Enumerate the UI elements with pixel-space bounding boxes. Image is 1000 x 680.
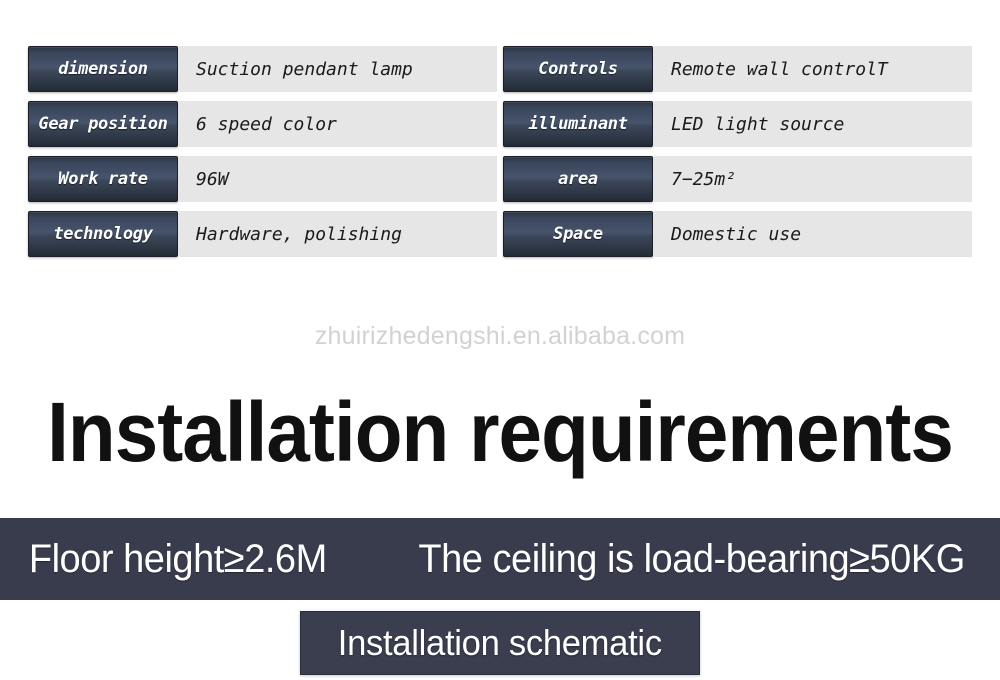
spec-value-work-rate: 96W <box>178 156 497 202</box>
product-spec-page: dimension Suction pendant lamp Controls … <box>0 0 1000 680</box>
spec-value-illuminant: LED light source <box>653 101 972 147</box>
spec-value-space: Domestic use <box>653 211 972 257</box>
spec-value-technology: Hardware, polishing <box>178 211 497 257</box>
spec-value-dimension: Suction pendant lamp <box>178 46 497 92</box>
spec-label-work-rate: Work rate <box>28 156 178 202</box>
spec-label-illuminant: illuminant <box>503 101 653 147</box>
spec-value-area: 7−25m² <box>653 156 972 202</box>
table-row: Work rate 96W area 7−25m² <box>28 156 972 202</box>
spec-cell-technology: technology Hardware, polishing <box>28 211 497 257</box>
table-row: technology Hardware, polishing Space Dom… <box>28 211 972 257</box>
spec-value-controls: Remote wall controlT <box>653 46 972 92</box>
requirements-banner: Floor height≥2.6M The ceiling is load-be… <box>0 518 1000 600</box>
installation-schematic-label: Installation schematic <box>338 623 662 663</box>
table-row: Gear position 6 speed color illuminant L… <box>28 101 972 147</box>
page-title: Installation requirements <box>35 386 965 478</box>
installation-schematic-heading: Installation schematic <box>300 611 700 675</box>
spec-cell-work-rate: Work rate 96W <box>28 156 497 202</box>
spec-label-technology: technology <box>28 211 178 257</box>
spec-label-gear-position: Gear position <box>28 101 178 147</box>
spec-cell-space: Space Domestic use <box>503 211 972 257</box>
spec-label-dimension: dimension <box>28 46 178 92</box>
spec-cell-area: area 7−25m² <box>503 156 972 202</box>
spec-label-controls: Controls <box>503 46 653 92</box>
specification-table: dimension Suction pendant lamp Controls … <box>28 46 972 266</box>
requirement-ceiling-load: The ceiling is load-bearing≥50KG <box>419 537 965 581</box>
spec-cell-controls: Controls Remote wall controlT <box>503 46 972 92</box>
spec-cell-illuminant: illuminant LED light source <box>503 101 972 147</box>
spec-cell-gear-position: Gear position 6 speed color <box>28 101 497 147</box>
spec-label-space: Space <box>503 211 653 257</box>
site-watermark: zhuirizhedengshi.en.alibaba.com <box>0 322 1000 351</box>
spec-label-area: area <box>503 156 653 202</box>
spec-value-gear-position: 6 speed color <box>178 101 497 147</box>
table-row: dimension Suction pendant lamp Controls … <box>28 46 972 92</box>
spec-cell-dimension: dimension Suction pendant lamp <box>28 46 497 92</box>
requirement-floor-height: Floor height≥2.6M <box>28 537 326 581</box>
